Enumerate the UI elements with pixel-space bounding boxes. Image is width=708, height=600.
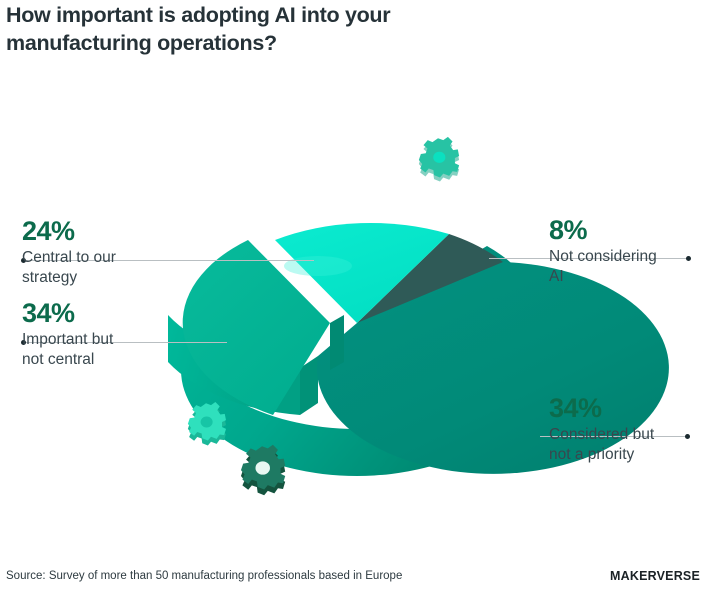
gear-icon	[419, 137, 459, 182]
leader-dot-considered	[685, 434, 690, 439]
callout-considered-not-priority: 34% Considered but not a priority	[549, 395, 654, 465]
callout-percent: 34%	[22, 300, 113, 327]
callout-percent: 24%	[22, 218, 116, 245]
pie-explode-seam	[330, 315, 344, 370]
callout-percent: 34%	[549, 395, 654, 422]
callout-label: Considered but not a priority	[549, 425, 654, 465]
source-note: Source: Survey of more than 50 manufactu…	[6, 570, 402, 582]
callout-label: Central to our strategy	[22, 248, 116, 288]
page-title: How important is adopting AI into your m…	[6, 2, 476, 58]
pie-chart-graphic: 24% Central to our strategy 34% Importan…	[0, 70, 708, 540]
callout-percent: 8%	[549, 217, 657, 244]
callout-important-not-central: 34% Important but not central	[22, 300, 113, 370]
callout-label: Important but not central	[22, 330, 113, 370]
slice-highlight	[284, 256, 352, 276]
callout-central-to-strategy: 24% Central to our strategy	[22, 218, 116, 288]
callout-not-considering-ai: 8% Not considering AI	[549, 217, 657, 287]
brand-logo: MAKERVERSE	[610, 569, 700, 583]
callout-label: Not considering AI	[549, 247, 657, 287]
leader-dot-notconsidering	[686, 256, 691, 261]
footer: Source: Survey of more than 50 manufactu…	[0, 560, 708, 600]
